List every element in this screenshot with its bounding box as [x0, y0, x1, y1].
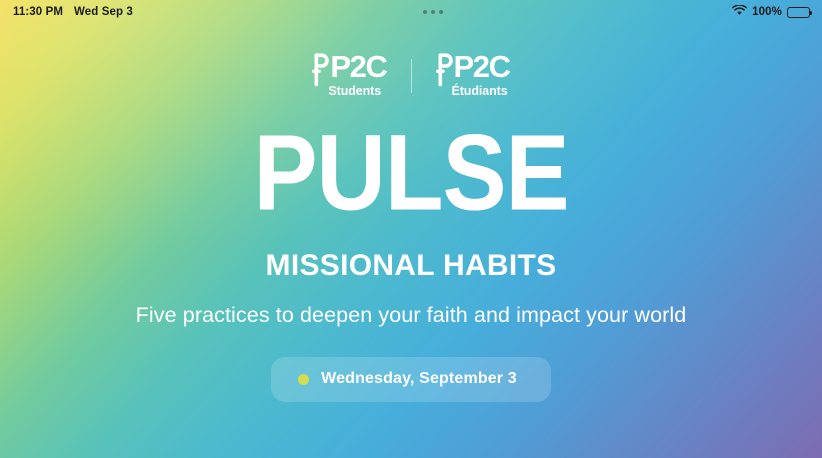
slide-content: P2C Students P2C Étudiants PULSE MIS — [0, 24, 822, 458]
presentation-slide: 11:30 PM Wed Sep 3 100% — [0, 0, 822, 458]
logo-row: P2C Students P2C Étudiants — [312, 53, 509, 98]
logo-divider — [411, 59, 412, 93]
indicator-dot — [431, 10, 435, 14]
status-bar-left: 11:30 PM Wed Sep 3 — [13, 6, 133, 18]
p2c-wordmark: P2C — [330, 53, 386, 81]
p2c-students-subtitle: Students — [328, 84, 381, 98]
battery-full-icon — [787, 7, 810, 18]
p2c-wordmark: P2C — [454, 53, 510, 81]
status-bar-right: 100% — [732, 5, 810, 19]
status-time: 11:30 PM — [13, 6, 63, 18]
wifi-icon — [732, 5, 747, 19]
status-center-indicator — [423, 10, 443, 14]
p2c-cross-p-icon — [312, 53, 329, 89]
p2c-cross-p-icon — [436, 53, 453, 89]
page-title: PULSE — [253, 120, 568, 228]
status-date: Wed Sep 3 — [74, 6, 133, 18]
indicator-dot — [423, 10, 427, 14]
status-bar: 11:30 PM Wed Sep 3 100% — [0, 0, 822, 24]
date-badge-label: Wednesday, September 3 — [321, 370, 517, 388]
status-dot-icon — [298, 374, 309, 385]
p2c-etudiants-subtitle: Étudiants — [452, 84, 508, 98]
battery-percent-label: 100% — [752, 6, 782, 18]
date-badge: Wednesday, September 3 — [271, 357, 551, 402]
indicator-dot — [439, 10, 443, 14]
page-tagline: Five practices to deepen your faith and … — [136, 303, 687, 328]
p2c-etudiants-logo: P2C Étudiants — [436, 53, 510, 98]
page-subtitle: MISSIONAL HABITS — [266, 249, 557, 283]
p2c-students-logo: P2C Students — [312, 53, 386, 98]
